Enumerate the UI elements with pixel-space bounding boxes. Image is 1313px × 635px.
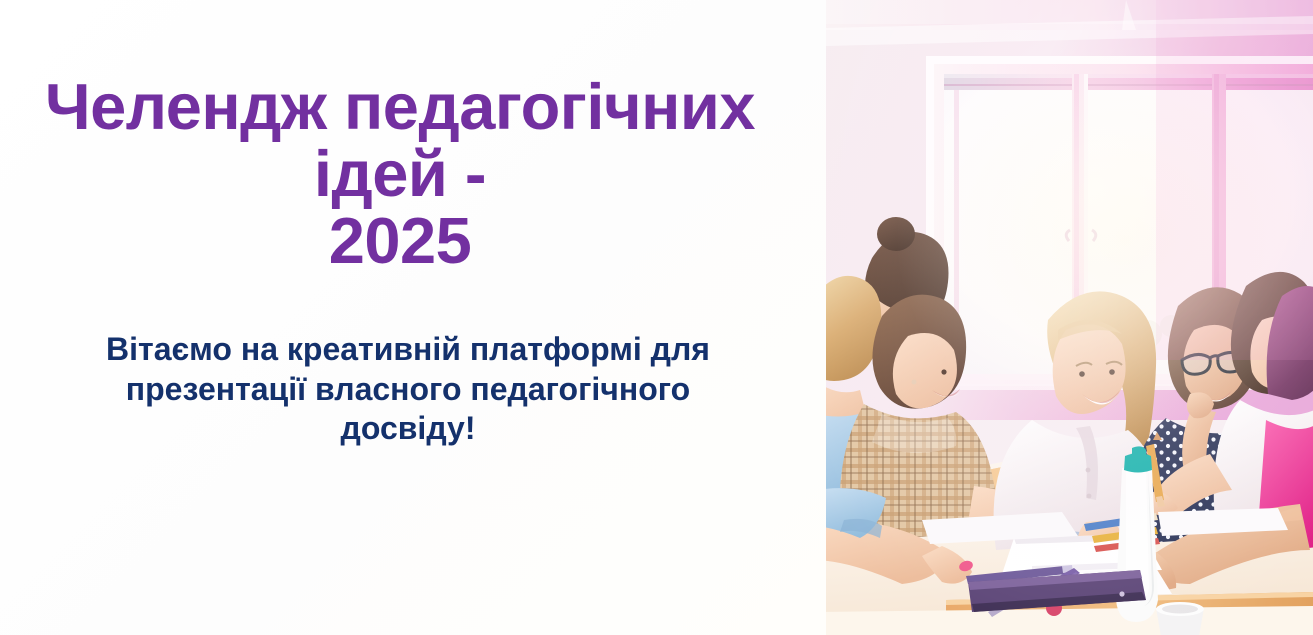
page-title: Челендж педагогічних ідей - 2025 [6,74,794,275]
classroom-photo-illustration [826,0,1313,635]
presentation-slide: Челендж педагогічних ідей - 2025 Вітаємо… [0,0,1313,635]
slide-subtitle: Вітаємо на креативній платформі для през… [28,330,788,449]
classroom-photo [826,0,1313,635]
slide-text-column: Челендж педагогічних ідей - 2025 Вітаємо… [0,0,826,635]
